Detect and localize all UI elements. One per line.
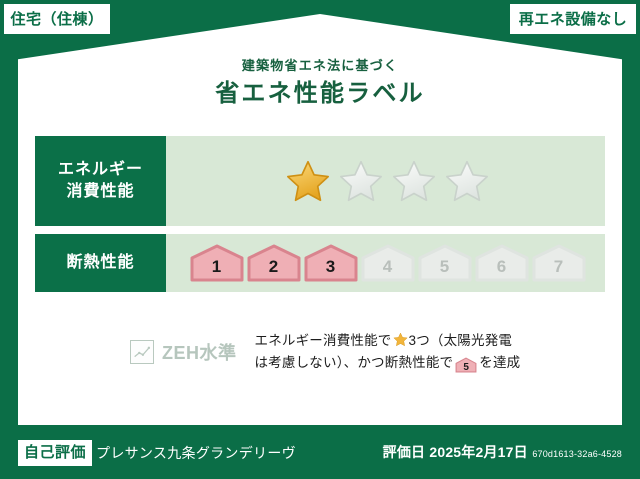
- title-subtitle: 建築物省エネ法に基づく: [0, 58, 640, 74]
- grade-badge-empty: 7: [532, 244, 586, 282]
- zeh-description: エネルギー消費性能で3つ（太陽光発電 は考慮しない）、かつ断熱性能で5を達成: [249, 330, 521, 373]
- inline-grade-value: 5: [455, 357, 477, 378]
- evaluation-id: 670d1613-32a6-4528: [532, 449, 622, 459]
- page-title: 省エネ性能ラベル: [0, 80, 640, 109]
- grade-badge-value: 4: [383, 258, 392, 282]
- grade-badge-filled: 1: [190, 244, 244, 282]
- zeh-description-line2: は考慮しない）、かつ断熱性能で5を達成: [255, 352, 521, 374]
- grade-badge-empty: 5: [418, 244, 472, 282]
- zeh-block: ZEH水準 エネルギー消費性能で3つ（太陽光発電 は考慮しない）、かつ断熱性能で…: [35, 330, 605, 373]
- tag-building-type: 住宅（住棟）: [4, 4, 110, 34]
- grade-badge-value: 2: [269, 258, 278, 282]
- row-energy-label-line1: エネルギー: [58, 159, 143, 181]
- energy-performance-label: 住宅（住棟） 再エネ設備なし 建築物省エネ法に基づく 省エネ性能ラベル エネルギ…: [0, 0, 640, 479]
- zeh-desc-line1-pre: エネルギー消費性能で: [255, 333, 392, 348]
- grade-badge-value: 1: [212, 258, 221, 282]
- tag-renewable-energy: 再エネ設備なし: [510, 4, 636, 34]
- star-empty-icon: [444, 159, 490, 203]
- zeh-desc-line1-post: 3つ（太陽光発電: [409, 333, 513, 348]
- energy-star-rating: [166, 136, 605, 226]
- grade-badge-empty: 4: [361, 244, 415, 282]
- zeh-description-line1: エネルギー消費性能で3つ（太陽光発電: [255, 330, 521, 352]
- zeh-badge: ZEH水準: [35, 339, 237, 365]
- grade-badge-value: 3: [326, 258, 335, 282]
- row-insulation-label: 断熱性能: [35, 234, 166, 292]
- row-insulation-performance: 断熱性能 1234567: [35, 234, 605, 292]
- zeh-chart-icon: [130, 340, 154, 364]
- grade-badge-value: 7: [554, 258, 563, 282]
- grade-badge-filled: 2: [247, 244, 301, 282]
- star-filled-icon: [285, 159, 331, 203]
- row-energy-label: エネルギー 消費性能: [35, 136, 166, 226]
- zeh-desc-line2-post: を達成: [479, 355, 520, 370]
- zeh-label: ZEH水準: [162, 339, 237, 365]
- inline-star-icon: [393, 332, 408, 347]
- rating-rows: エネルギー 消費性能 断熱性能 1234567: [35, 136, 605, 300]
- row-energy-label-line2: 消費性能: [66, 181, 134, 203]
- footer-meta: 評価日 2025年2月17日 670d1613-32a6-4528: [383, 443, 622, 463]
- building-name: プレサンス九条グランデリーヴ: [96, 443, 296, 463]
- row-insulation-label-line1: 断熱性能: [66, 252, 134, 274]
- insulation-grade-scale: 1234567: [166, 234, 605, 292]
- self-evaluation-badge: 自己評価: [18, 440, 92, 466]
- star-empty-icon: [391, 159, 437, 203]
- inline-grade-badge: 5: [455, 357, 477, 373]
- star-empty-icon: [338, 159, 384, 203]
- grade-badge-filled: 3: [304, 244, 358, 282]
- row-energy-performance: エネルギー 消費性能: [35, 136, 605, 226]
- grade-badge-value: 6: [497, 258, 506, 282]
- evaluation-date: 評価日 2025年2月17日: [383, 444, 528, 460]
- zeh-desc-line2-pre: は考慮しない）、かつ断熱性能で: [255, 355, 454, 370]
- grade-badge-value: 5: [440, 258, 449, 282]
- title-block: 建築物省エネ法に基づく 省エネ性能ラベル: [0, 58, 640, 108]
- grade-badge-empty: 6: [475, 244, 529, 282]
- footer: 自己評価 プレサンス九条グランデリーヴ 評価日 2025年2月17日 670d1…: [0, 427, 640, 479]
